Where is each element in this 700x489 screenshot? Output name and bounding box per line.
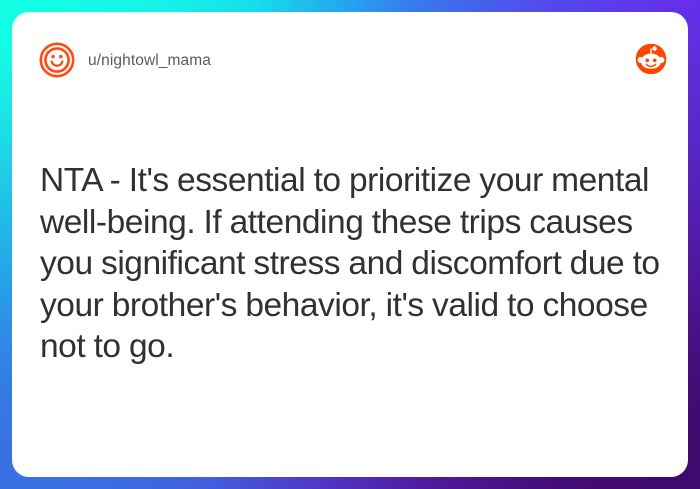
post-header: u/nightowl_mama [12, 12, 688, 104]
smiley-face-avatar-icon[interactable] [38, 41, 76, 79]
post-body-text: NTA - It's essential to prioritize your … [40, 160, 662, 368]
screenshot-stage: u/nightowl_mama [0, 0, 700, 489]
post-author-username[interactable]: u/nightowl_mama [88, 51, 211, 71]
reddit-post-card: u/nightowl_mama [12, 12, 688, 477]
reddit-snoo-icon[interactable] [632, 40, 670, 78]
